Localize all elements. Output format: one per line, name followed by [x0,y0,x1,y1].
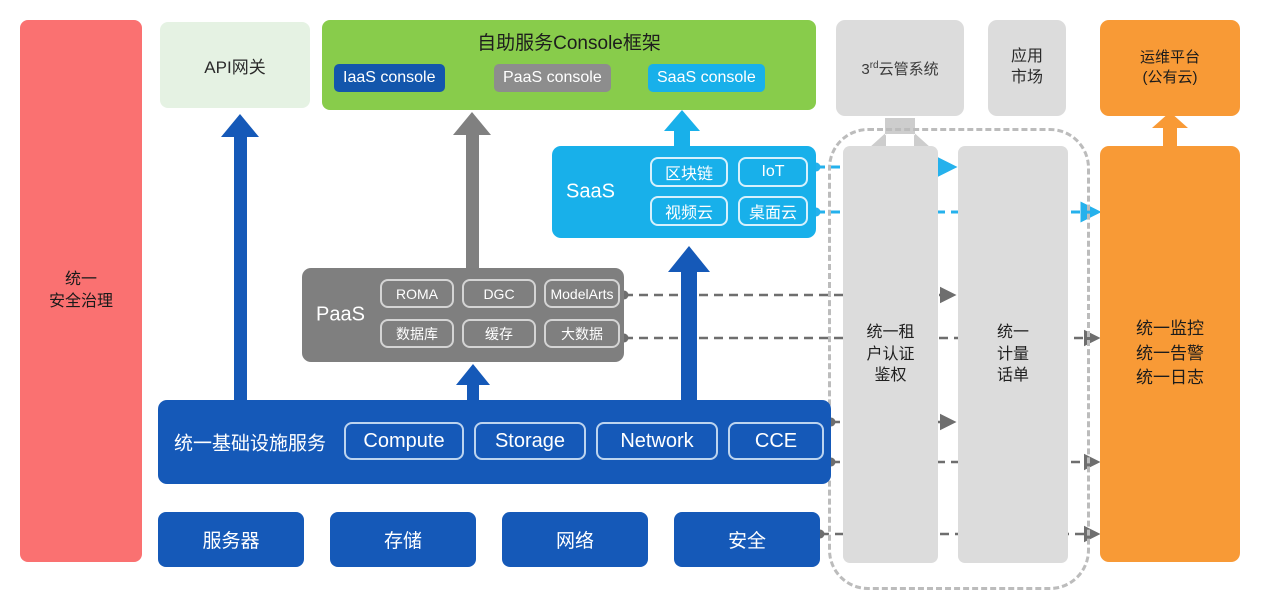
paas-chip-bigdata-label: 大数据 [561,324,603,344]
arrow-infra-to-paas [456,364,490,400]
ops-platform-body-box: 统一监控 统一告警 统一日志 [1100,146,1240,562]
app-market-line2: 市场 [1011,68,1043,89]
third-party-cloud-mgmt-box: 3rd云管系统 [836,20,964,116]
app-market-box: 应用 市场 [988,20,1066,116]
security-governance-panel: 统一 安全治理 [20,20,142,562]
metering-line2: 计量 [997,344,1029,366]
saas-chip-blockchain[interactable]: 区块链 [650,157,728,187]
infra-chip-compute[interactable]: Compute [344,422,464,460]
resource-box-network-label: 网络 [556,526,594,553]
resource-box-storage: 存储 [330,512,476,567]
third-party-label: 3rd云管系统 [861,58,938,79]
saas-console-label: SaaS console [657,69,756,87]
paas-console-label: PaaS console [503,69,602,87]
security-governance-line1: 统一 [49,269,113,291]
ops-platform-head-line1: 运维平台 [1140,48,1200,68]
paas-layer-label: PaaS [316,304,365,327]
metering-line1: 统一 [997,322,1029,344]
saas-console-chip[interactable]: SaaS console [648,64,765,92]
ops-platform-body-line2: 统一告警 [1136,342,1204,367]
paas-chip-modelarts[interactable]: ModelArts [544,279,620,308]
saas-chip-video-cloud-label: 视频云 [665,199,713,223]
saas-chip-iot[interactable]: IoT [738,157,808,187]
arrow-infra-to-api-gateway [221,114,259,400]
paas-chip-database[interactable]: 数据库 [380,319,454,348]
third-party-sup: rd [870,60,879,71]
paas-console-chip[interactable]: PaaS console [494,64,611,92]
security-governance-line2: 安全治理 [49,291,113,313]
paas-chip-modelarts-label: ModelArts [550,286,613,302]
paas-chip-dgc-label: DGC [483,286,514,302]
arrow-ops-body-to-head [1152,112,1188,146]
arrow-paas-to-console [453,112,491,268]
saas-chip-desktop-cloud[interactable]: 桌面云 [738,196,808,226]
resource-box-server-label: 服务器 [202,526,259,553]
paas-chip-bigdata[interactable]: 大数据 [544,319,620,348]
saas-layer-box: SaaS 区块链 IoT 视频云 桌面云 [552,146,816,238]
saas-chip-blockchain-label: 区块链 [665,160,713,184]
paas-chip-database-label: 数据库 [396,324,438,344]
paas-chip-roma[interactable]: ROMA [380,279,454,308]
arrow-infra-to-saas [668,246,710,400]
saas-chip-iot-label: IoT [761,163,784,181]
metering-line3: 话单 [997,365,1029,387]
infra-chip-network[interactable]: Network [596,422,718,460]
resource-box-storage-label: 存储 [384,526,422,553]
api-gateway-box: API网关 [160,22,310,108]
unified-metering-billing-bar: 统一 计量 话单 [958,146,1068,563]
resource-box-server: 服务器 [158,512,304,567]
infra-chip-cce-label: CCE [755,430,797,453]
app-market-line1: 应用 [1011,47,1043,68]
paas-layer-box: PaaS ROMA DGC ModelArts 数据库 缓存 大数据 [302,268,624,362]
console-framework-title: 自助服务Console框架 [322,28,816,55]
unified-infrastructure-box: 统一基础设施服务 Compute Storage Network CCE [158,400,831,484]
infra-chip-cce[interactable]: CCE [728,422,824,460]
unified-tenant-auth-bar: 统一租 户认证 鉴权 [843,146,938,563]
paas-chip-roma-label: ROMA [396,286,438,302]
arrow-saas-to-saas-console [664,110,700,148]
unified-infrastructure-label: 统一基础设施服务 [174,429,326,456]
resource-box-security: 安全 [674,512,820,567]
infra-chip-storage-label: Storage [495,430,565,453]
ops-platform-header-box: 运维平台 (公有云) [1100,20,1240,116]
resource-box-network: 网络 [502,512,648,567]
auth-line2: 户认证 [866,344,914,366]
infra-chip-network-label: Network [620,430,693,453]
auth-line1: 统一租 [866,322,914,344]
api-gateway-label: API网关 [204,53,265,78]
ops-platform-body-line1: 统一监控 [1136,317,1204,342]
console-framework-box: 自助服务Console框架 IaaS console PaaS console … [322,20,816,110]
saas-layer-label: SaaS [566,181,615,204]
ops-platform-head-line2: (公有云) [1140,68,1200,88]
paas-chip-dgc[interactable]: DGC [462,279,536,308]
infra-chip-storage[interactable]: Storage [474,422,586,460]
ops-platform-body-line3: 统一日志 [1136,366,1204,391]
iaas-console-label: IaaS console [343,69,436,87]
paas-chip-cache-label: 缓存 [485,324,513,344]
iaas-console-chip[interactable]: IaaS console [334,64,445,92]
third-party-prefix: 3 [861,61,869,78]
infra-chip-compute-label: Compute [363,430,444,453]
saas-chip-desktop-cloud-label: 桌面云 [749,199,797,223]
architecture-diagram: 统一 安全治理 API网关 自助服务Console框架 IaaS console… [0,0,1265,605]
third-party-suffix: 云管系统 [879,61,939,78]
paas-chip-cache[interactable]: 缓存 [462,319,536,348]
saas-chip-video-cloud[interactable]: 视频云 [650,196,728,226]
auth-line3: 鉴权 [866,365,914,387]
resource-box-security-label: 安全 [728,526,766,553]
